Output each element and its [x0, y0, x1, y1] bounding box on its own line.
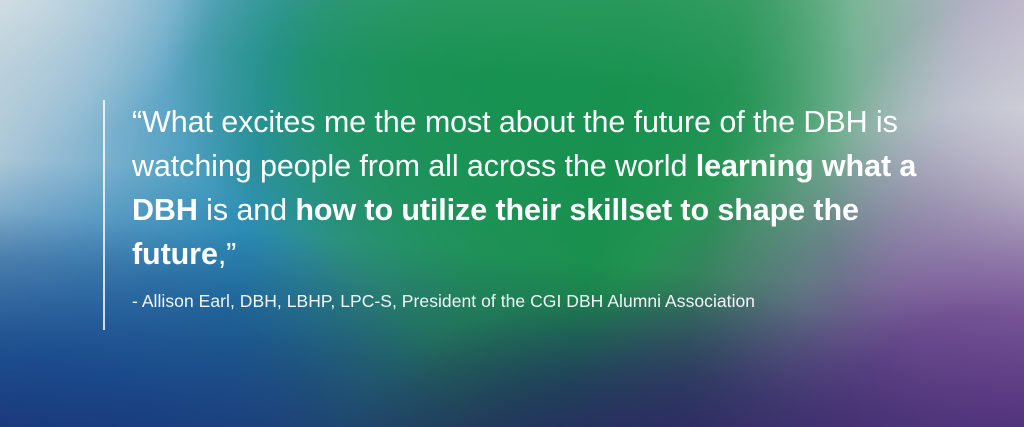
- quote-segment-plain-3: ,”: [218, 237, 236, 271]
- quote-banner: “What excites me the most about the futu…: [0, 0, 1024, 427]
- quote-text: “What excites me the most about the futu…: [132, 100, 971, 276]
- quote-segment-plain-2: is and: [198, 193, 296, 227]
- quote-attribution: - Allison Earl, DBH, LBHP, LPC-S, Presid…: [105, 290, 755, 312]
- quote-block: “What excites me the most about the futu…: [103, 100, 971, 330]
